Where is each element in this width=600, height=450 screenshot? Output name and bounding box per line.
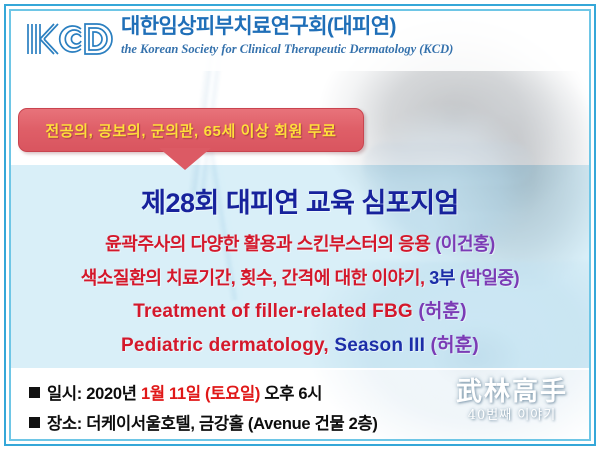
- program-title: 윤곽주사의 다양한 활용과 스킨부스터의 응용: [105, 234, 430, 254]
- banner-tail-arrow: [159, 148, 211, 170]
- program-item: 윤곽주사의 다양한 활용과 스킨부스터의 응용 (이건홍): [11, 227, 589, 261]
- program-item: Treatment of filler-related FBG (허훈): [11, 295, 589, 329]
- program-item: 색소질환의 치료기간, 횟수, 간격에 대한 이야기, 3부 (박일중): [11, 261, 589, 295]
- program-list: 윤곽주사의 다양한 활용과 스킨부스터의 응용 (이건홍) 색소질환의 치료기간…: [11, 227, 589, 363]
- program-title: 색소질환의 치료기간, 횟수, 간격에 대한 이야기,: [81, 268, 425, 288]
- organization-name-en: the Korean Society for Clinical Therapeu…: [121, 41, 453, 57]
- date-prefix: 2020년: [86, 385, 136, 403]
- calligraphy-main: 武林高手: [447, 377, 577, 407]
- event-info: 일시: 2020년 1월 11일 (토요일) 오후 6시 장소: 더케이서울호텔…: [29, 379, 378, 439]
- program-highlight: Season III: [334, 335, 425, 356]
- free-admission-banner: 전공의, 공보의, 군의관, 65세 이상 회원 무료: [18, 108, 364, 152]
- organization-name-ko: 대한임상피부치료연구회(대피연): [121, 14, 453, 40]
- program-title: Treatment of filler-related FBG: [133, 301, 413, 322]
- program-item: Pediatric dermatology, Season III (허훈): [11, 329, 589, 363]
- date-highlight: 1월 11일 (토요일): [141, 385, 260, 403]
- event-date-line: 일시: 2020년 1월 11일 (토요일) 오후 6시: [29, 379, 378, 409]
- free-admission-text: 전공의, 공보의, 군의관, 65세 이상 회원 무료: [45, 120, 336, 141]
- program-speaker: (박일중): [460, 268, 520, 288]
- venue-label: 장소:: [47, 415, 82, 433]
- event-venue-line: 장소: 더케이서울호텔, 금강홀 (Avenue 건물 2층): [29, 409, 378, 439]
- program-speaker: (이건홍): [435, 234, 495, 254]
- poster-content: 대한임상피부치료연구회(대피연) the Korean Society for …: [11, 11, 589, 439]
- calligraphy-mark: 武林高手 40번째 이야기: [447, 377, 577, 424]
- date-label: 일시:: [47, 385, 82, 403]
- square-bullet-icon: [29, 417, 40, 428]
- page-title: 제28회 대피연 교육 심포지엄: [11, 181, 589, 220]
- calligraphy-sub: 40번째 이야기: [447, 407, 577, 424]
- poster-header: 대한임상피부치료연구회(대피연) the Korean Society for …: [11, 13, 589, 69]
- square-bullet-icon: [29, 387, 40, 398]
- date-suffix: 오후 6시: [264, 385, 322, 403]
- organization-block: 대한임상피부치료연구회(대피연) the Korean Society for …: [121, 14, 453, 57]
- program-highlight: 3부: [429, 268, 455, 288]
- kcd-logo-icon: [23, 19, 119, 59]
- program-speaker: (허훈): [418, 301, 466, 322]
- program-title: Pediatric dermatology,: [121, 335, 329, 356]
- symposium-poster: 대한임상피부치료연구회(대피연) the Korean Society for …: [0, 0, 600, 450]
- program-speaker: (허훈): [431, 335, 479, 356]
- venue-value: 더케이서울호텔, 금강홀 (Avenue 건물 2층): [86, 415, 377, 433]
